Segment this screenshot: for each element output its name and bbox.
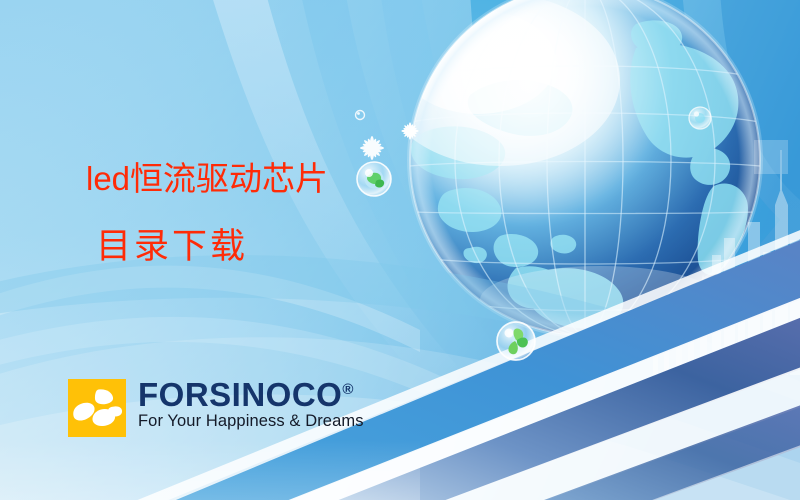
banner-image: led恒流驱动芯片 目录下载 FORSINOCO® For Your Happi… [0, 0, 800, 500]
headline-line-2: 目录下载 [96, 229, 248, 264]
company-logo: FORSINOCO® For Your Happiness & Dreams [68, 379, 364, 437]
four-petal-pinwheel-icon [68, 379, 126, 437]
logo-text-block: FORSINOCO® For Your Happiness & Dreams [138, 379, 364, 431]
small-bubble-icon [689, 107, 711, 129]
registered-trademark-icon: ® [342, 381, 353, 398]
logo-tagline: For Your Happiness & Dreams [138, 412, 364, 431]
logo-wordmark: FORSINOCO® [138, 379, 364, 411]
logo-wordmark-text: FORSINOCO [138, 376, 342, 413]
headline-line-1: led恒流驱动芯片 [86, 162, 328, 195]
mini-globe-bubble-icon [357, 162, 391, 196]
green-leaf-bubble-icon [497, 322, 535, 360]
